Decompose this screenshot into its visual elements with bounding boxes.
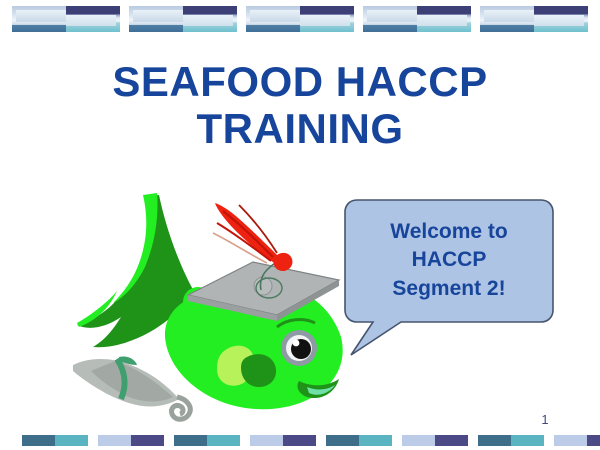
header-block-left-half	[480, 6, 534, 32]
header-block-right-half	[300, 6, 354, 32]
graduate-fish-illustration	[55, 185, 355, 425]
footer-block	[55, 435, 88, 446]
footer-block-pair	[402, 435, 468, 446]
footer-block	[554, 435, 587, 446]
footer-block	[207, 435, 240, 446]
header-block	[363, 6, 471, 32]
footer-block-pair	[98, 435, 164, 446]
header-block-right-half	[183, 6, 237, 32]
footer-block-pair	[174, 435, 240, 446]
footer-decorative-band	[0, 428, 600, 450]
footer-block-pair	[554, 435, 600, 446]
footer-block	[131, 435, 164, 446]
footer-block	[250, 435, 283, 446]
footer-block	[511, 435, 544, 446]
tassel-strand-1	[223, 211, 273, 257]
header-decorative-band	[0, 0, 600, 40]
footer-block	[478, 435, 511, 446]
footer-block	[98, 435, 131, 446]
speech-bubble-text: Welcome to HACCP Segment 2!	[343, 218, 555, 303]
footer-block	[326, 435, 359, 446]
slide-canvas: SEAFOOD HACCP TRAINING	[0, 0, 600, 450]
header-block-left-half	[363, 6, 417, 32]
footer-block-pair	[478, 435, 544, 446]
header-block-left-half	[12, 6, 66, 32]
header-block-left-half	[129, 6, 183, 32]
header-block-right-half	[66, 6, 120, 32]
fish-svg	[55, 185, 355, 425]
header-block-right-half	[417, 6, 471, 32]
header-block	[246, 6, 354, 32]
footer-block	[283, 435, 316, 446]
header-block	[129, 6, 237, 32]
footer-block-pair	[250, 435, 316, 446]
footer-block-pair	[22, 435, 88, 446]
footer-block	[402, 435, 435, 446]
page-title: SEAFOOD HACCP TRAINING	[30, 58, 570, 152]
speech-bubble: Welcome to HACCP Segment 2!	[343, 198, 555, 358]
footer-block	[587, 435, 600, 446]
header-block-right-half	[534, 6, 588, 32]
footer-block	[359, 435, 392, 446]
fish-eye-glint	[293, 340, 300, 347]
footer-block	[22, 435, 55, 446]
header-block-left-half	[246, 6, 300, 32]
footer-block-pair	[326, 435, 392, 446]
footer-block	[174, 435, 207, 446]
header-block	[480, 6, 588, 32]
header-block	[12, 6, 120, 32]
footer-block	[435, 435, 468, 446]
page-number: 1	[530, 412, 560, 427]
